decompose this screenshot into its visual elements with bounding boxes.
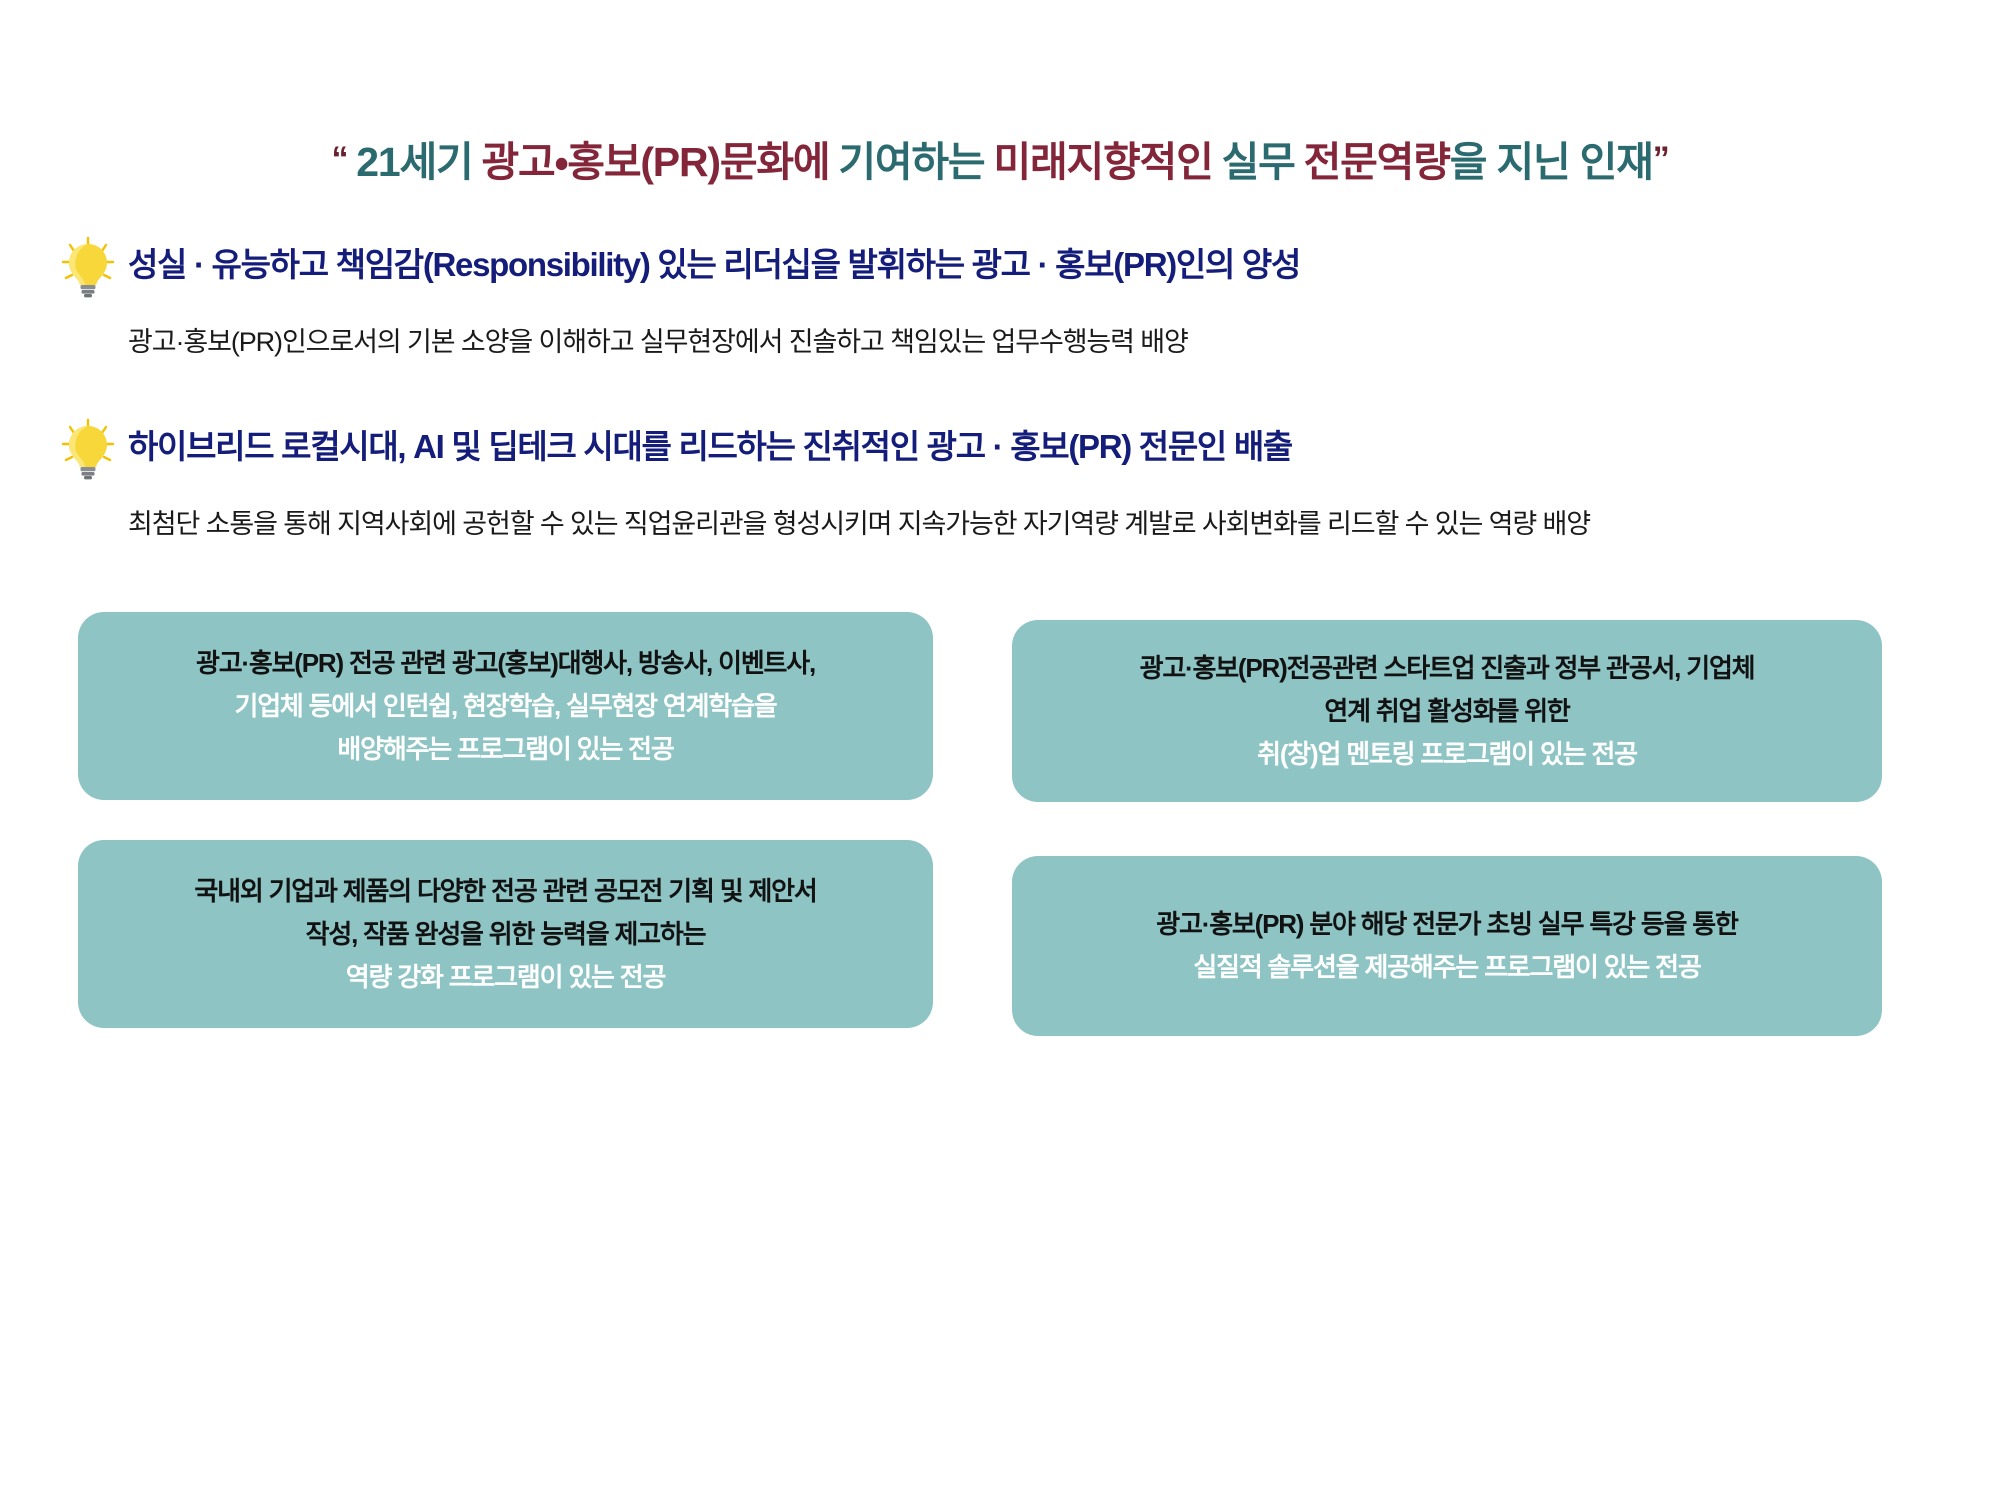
title-segment-0: 21세기 [356,139,472,185]
lightbulb-icon [58,418,118,480]
card-line: 역량 강화 프로그램이 있는 전공 [346,956,665,999]
card-line: 광고·홍보(PR) 전공 관련 광고(홍보)대행사, 방송사, 이벤트사, [196,642,815,685]
close-quote: ” [1653,140,1669,178]
goal-block-1: 성실 · 유능하고 책임감(Responsibility) 있는 리더십을 발휘… [0,240,2000,359]
goal-2-heading: 하이브리드 로컬시대, AI 및 딥테크 시대를 리드하는 진취적인 광고 · … [128,422,2000,472]
lightbulb-icon [58,236,118,298]
goal-1-heading: 성실 · 유능하고 책임감(Responsibility) 있는 리더십을 발휘… [128,240,2000,290]
card-line: 작성, 작품 완성을 위한 능력을 제고하는 [306,913,706,956]
card-line: 광고·홍보(PR)전공관련 스타트업 진출과 정부 관공서, 기업체 [1140,647,1755,690]
card-line: 기업체 등에서 인턴쉽, 현장학습, 실무현장 연계학습을 [234,685,776,728]
program-card-top-right: 광고·홍보(PR)전공관련 스타트업 진출과 정부 관공서, 기업체 연계 취업… [1012,620,1882,802]
card-line: 광고·홍보(PR) 분야 해당 전문가 초빙 실무 특강 등을 통한 [1156,903,1737,946]
card-line: 국내외 기업과 제품의 다양한 전공 관련 공모전 기획 및 제안서 [194,870,816,913]
page-title: “21세기광고・홍보(PR)문화에기여하는미래지향적인실무전문역량을 지닌 인재… [0,128,2000,188]
title-segment-6: 을 지닌 인재 [1450,139,1653,185]
title-segment-1: 광고・홍보(PR)문화에 [482,139,830,185]
card-line: 연계 취업 활성화를 위한 [1324,690,1569,733]
title-segment-3: 미래지향적인 [993,139,1212,185]
title-segment-4: 실무 [1222,139,1295,185]
open-quote: “ [331,140,347,178]
card-line: 배양해주는 프로그램이 있는 전공 [337,728,673,771]
program-card-bottom-right: 광고·홍보(PR) 분야 해당 전문가 초빙 실무 특강 등을 통한 실질적 솔… [1012,856,1882,1036]
card-line: 실질적 솔루션을 제공해주는 프로그램이 있는 전공 [1193,946,1700,989]
goal-2-description: 최첨단 소통을 통해 지역사회에 공헌할 수 있는 직업윤리관을 형성시키며 지… [0,502,2000,541]
program-card-top-left: 광고·홍보(PR) 전공 관련 광고(홍보)대행사, 방송사, 이벤트사, 기업… [78,612,933,800]
card-line: 취(창)업 멘토링 프로그램이 있는 전공 [1257,733,1637,776]
goal-block-2: 하이브리드 로컬시대, AI 및 딥테크 시대를 리드하는 진취적인 광고 · … [0,422,2000,541]
title-segment-2: 기여하는 [838,139,984,185]
goal-1-description: 광고·홍보(PR)인으로서의 기본 소양을 이해하고 실무현장에서 진솔하고 책… [0,320,2000,359]
program-cards: 광고·홍보(PR) 전공 관련 광고(홍보)대행사, 방송사, 이벤트사, 기업… [0,612,2000,1052]
program-card-bottom-left: 국내외 기업과 제품의 다양한 전공 관련 공모전 기획 및 제안서 작성, 작… [78,840,933,1028]
title-segment-5: 전문역량 [1304,139,1450,185]
goal-2-header: 하이브리드 로컬시대, AI 및 딥테크 시대를 리드하는 진취적인 광고 · … [0,422,2000,480]
goal-1-header: 성실 · 유능하고 책임감(Responsibility) 있는 리더십을 발휘… [0,240,2000,298]
